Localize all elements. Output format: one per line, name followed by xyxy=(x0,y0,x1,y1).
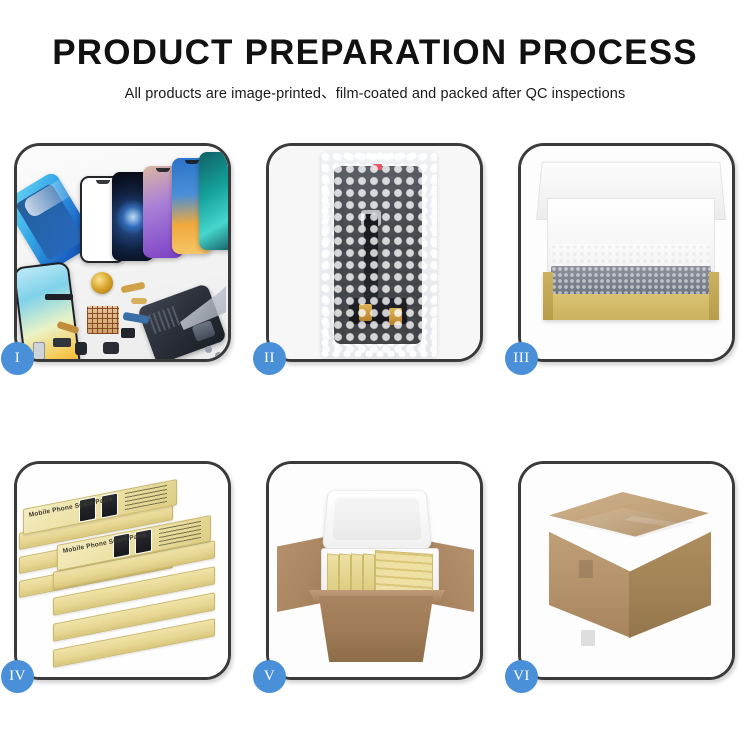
process-step-grid: I II xyxy=(14,143,736,680)
carton-handle-cutout xyxy=(581,630,595,646)
product-preparation-infographic: PRODUCT PREPARATION PROCESS All products… xyxy=(0,0,750,750)
step-1-image xyxy=(17,146,228,359)
small-component-part xyxy=(53,338,71,347)
header: PRODUCT PREPARATION PROCESS All products… xyxy=(0,34,750,103)
qc-red-sticker xyxy=(373,164,382,170)
phone-notch-icon xyxy=(185,160,199,164)
step-1-badge: I xyxy=(1,342,34,375)
gold-contact-tab xyxy=(359,304,372,321)
screw-part xyxy=(215,352,222,359)
tray-left-edge xyxy=(543,272,553,320)
battery-part xyxy=(33,342,45,359)
carton-body xyxy=(311,596,441,662)
phone-teal-display xyxy=(199,152,228,250)
step-2-image xyxy=(269,146,480,359)
step-3-image xyxy=(521,146,732,359)
step-6-badge: VI xyxy=(505,660,538,693)
step-4-image: Mobile Phone Spare Parts Mobile Phone Sp… xyxy=(17,464,228,677)
gold-contact-tab xyxy=(389,308,402,325)
screw-part xyxy=(205,346,212,353)
retail-box-upright xyxy=(351,553,363,594)
display-flex-cable xyxy=(364,214,378,310)
process-step-1[interactable]: I xyxy=(14,143,231,362)
step-3-badge: III xyxy=(505,342,538,375)
step-5-badge: V xyxy=(253,660,286,693)
retail-box-upright xyxy=(339,553,351,594)
step-4-badge: IV xyxy=(1,660,34,693)
retail-box-upright xyxy=(363,553,375,594)
process-step-3[interactable]: III xyxy=(518,143,735,362)
copper-coil-part xyxy=(91,272,113,294)
phone-notch-icon xyxy=(96,180,110,184)
process-step-5[interactable]: V xyxy=(266,461,483,680)
camera-module-part xyxy=(103,342,119,354)
process-step-2[interactable]: II xyxy=(266,143,483,362)
carton-handle-cutout xyxy=(579,560,593,578)
page-subtitle: All products are image-printed、film-coat… xyxy=(0,82,750,103)
speaker-mesh-part xyxy=(45,294,73,300)
page-title: PRODUCT PREPARATION PROCESS xyxy=(0,34,750,73)
retail-box-upright xyxy=(327,553,339,594)
small-component-part xyxy=(121,328,135,338)
step-2-badge: II xyxy=(253,342,286,375)
tray-right-edge xyxy=(709,272,719,320)
retail-box-stack: Mobile Phone Spare Parts Mobile Phone Sp… xyxy=(17,464,228,677)
contact-grid-part xyxy=(87,306,119,334)
retail-boxes-stacked-flat xyxy=(375,550,433,596)
step-5-image xyxy=(269,464,480,677)
bubble-wrap-pouch xyxy=(321,152,437,357)
gold-connector-part xyxy=(131,298,147,304)
process-step-6[interactable]: VI xyxy=(518,461,735,680)
gray-foam-padding xyxy=(551,266,711,294)
process-step-4[interactable]: Mobile Phone Spare Parts Mobile Phone Sp… xyxy=(14,461,231,680)
foam-case-lid xyxy=(322,490,432,550)
step-6-image xyxy=(521,464,732,677)
phone-notch-icon xyxy=(156,168,170,172)
small-component-part xyxy=(75,342,87,355)
